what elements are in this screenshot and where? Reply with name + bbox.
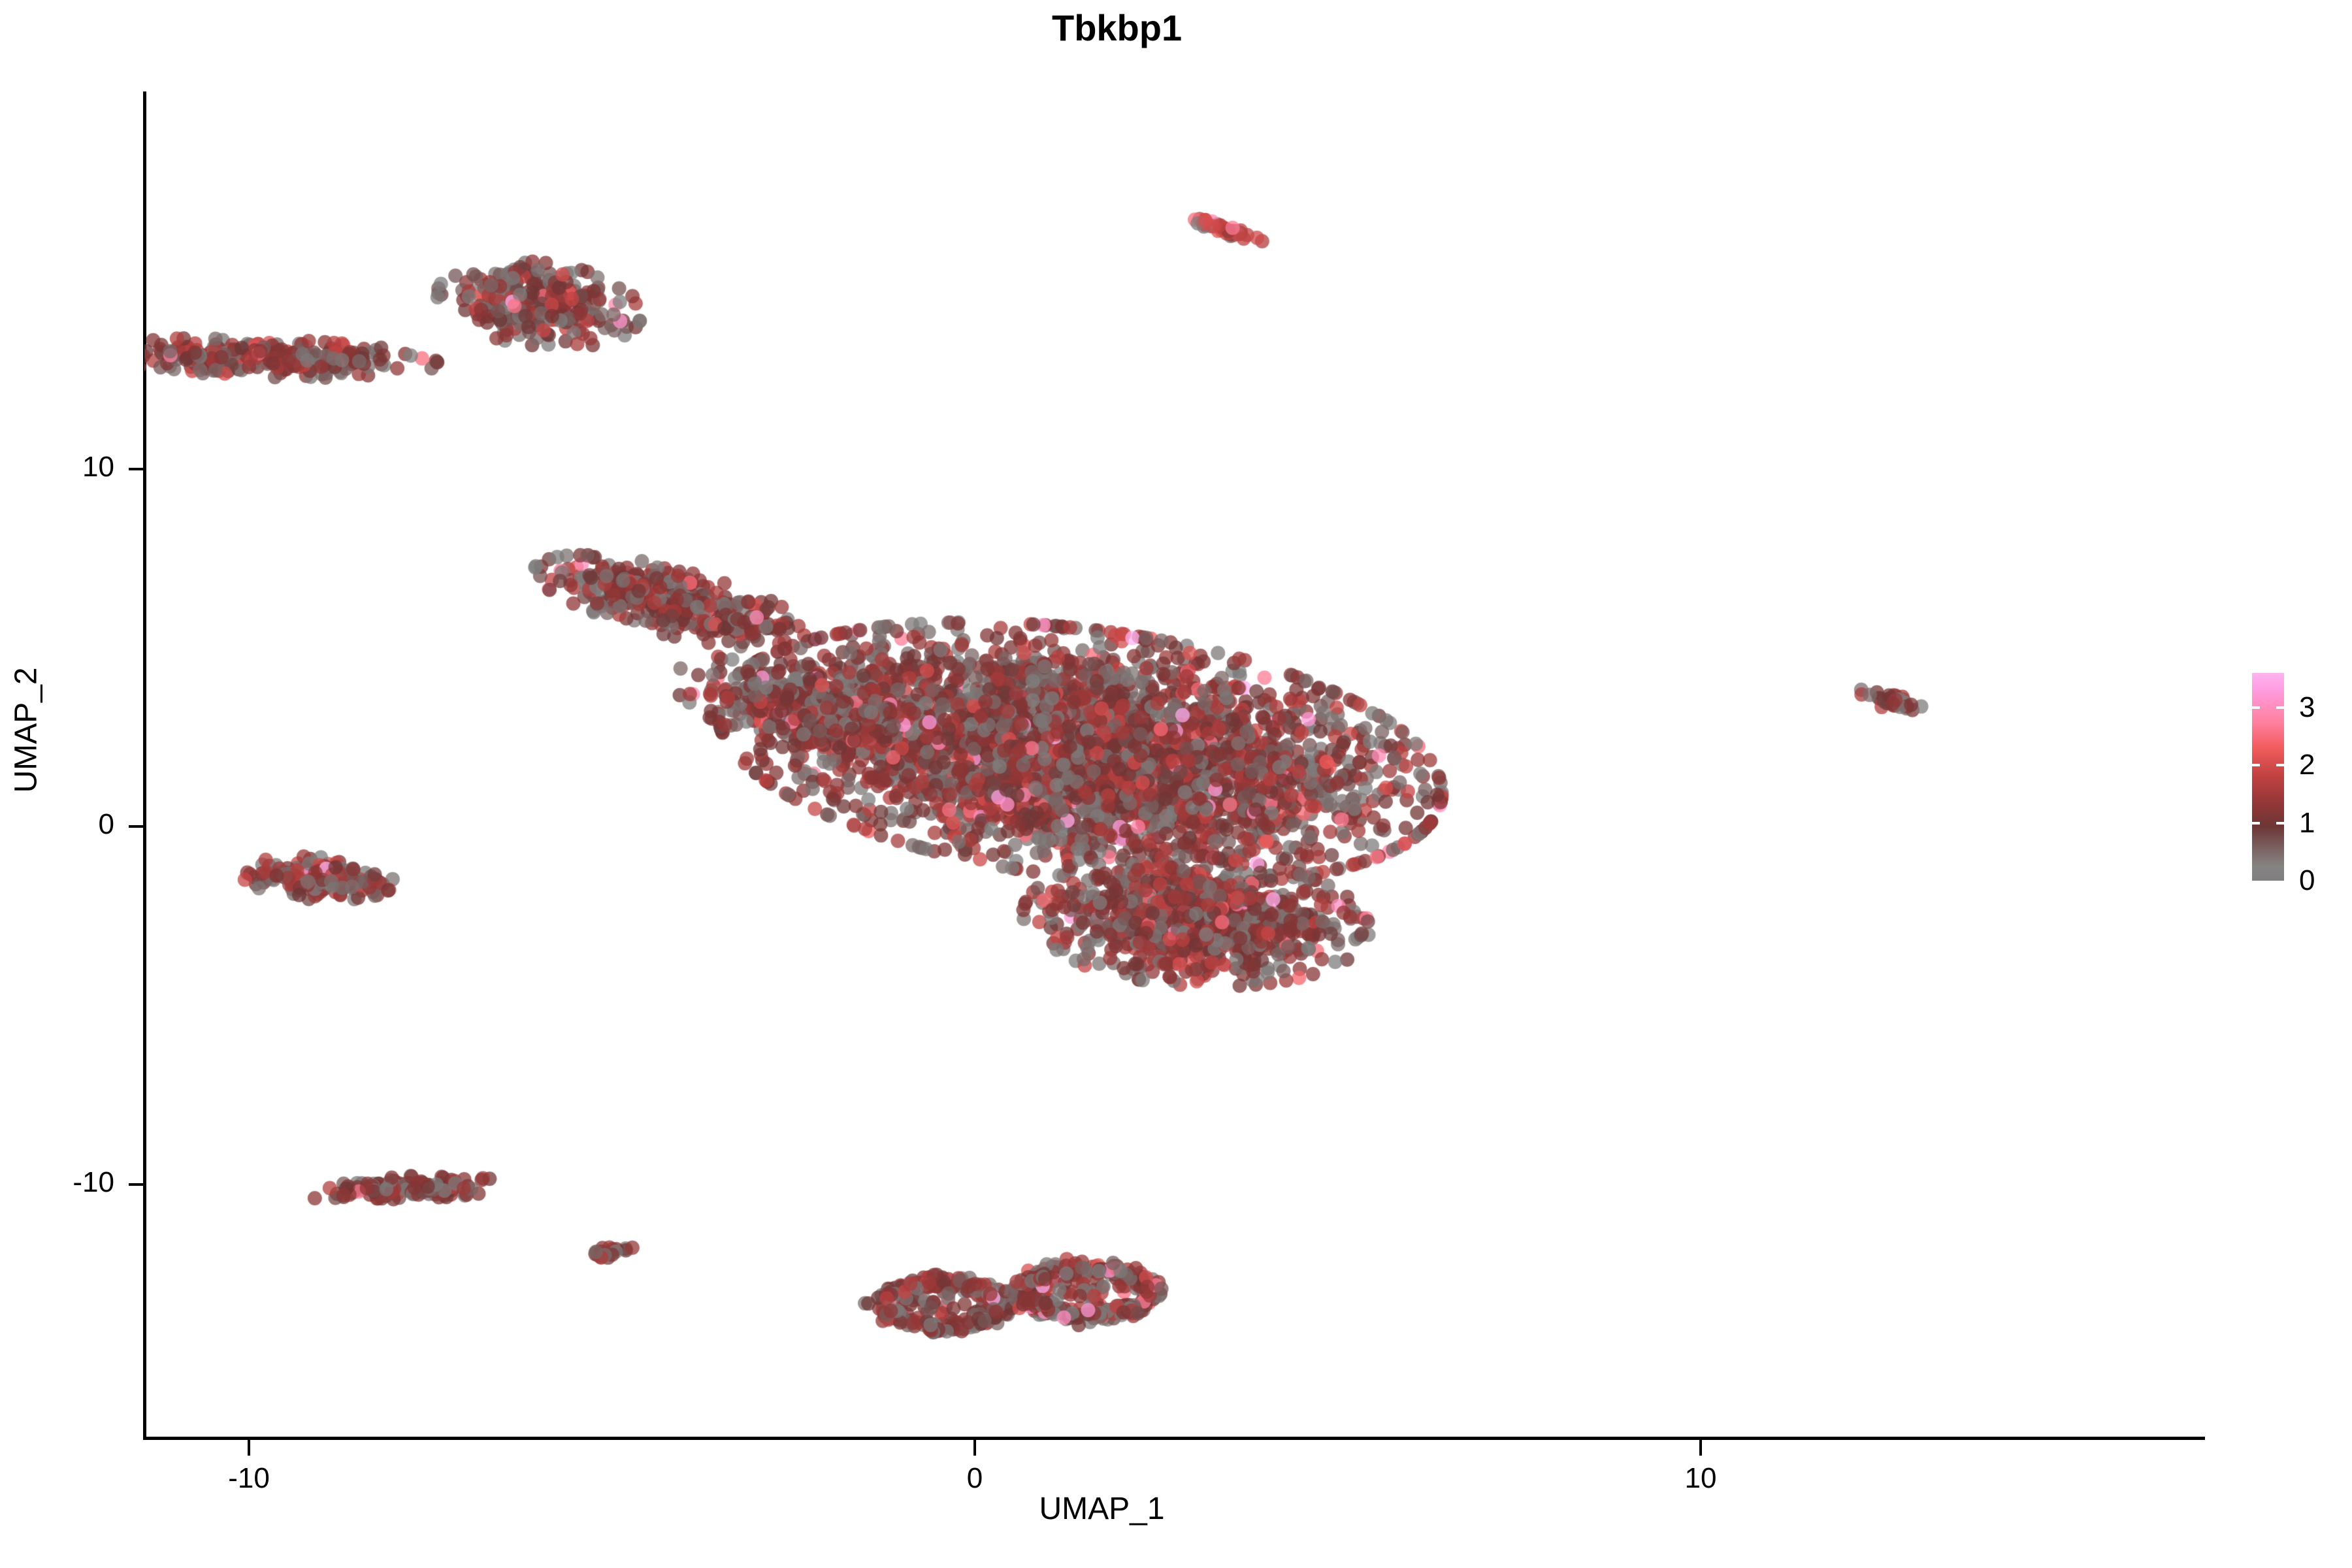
x-tick-mark [248,1440,250,1456]
colorbar-tick [2252,764,2260,766]
y-axis-title: UMAP_2 [8,561,44,900]
y-tick-mark [129,468,144,470]
colorbar-label: 2 [2299,749,2315,781]
x-tick-mark [973,1440,976,1456]
colorbar-label: 0 [2299,864,2315,897]
scatter-points-canvas [144,91,2204,1439]
y-tick-label: -10 [0,1166,114,1199]
colorbar-gradient [2252,673,2284,881]
colorbar-tick [2252,706,2260,709]
colorbar-tick [2276,822,2284,825]
x-tick-label: -10 [228,1462,270,1495]
colorbar-tick [2276,764,2284,766]
color-legend: 3210 [2252,673,2344,882]
umap-feature-plot: Tbkbp1 -10010 -10010 UMAP_1 UMAP_2 3210 [0,0,2352,1568]
page-title: Tbkbp1 [1052,7,1182,49]
colorbar-tick [2276,706,2284,709]
colorbar-label: 3 [2299,691,2315,724]
x-tick-mark [1699,1440,1702,1456]
colorbar-label: 1 [2299,807,2315,840]
x-tick-label: 0 [967,1462,983,1495]
scatter-plot-area [144,91,2204,1439]
x-tick-label: 10 [1685,1462,1717,1495]
x-axis-title: UMAP_1 [0,1491,2204,1527]
colorbar-tick [2252,822,2260,825]
y-tick-mark [129,825,144,828]
y-tick-label: 10 [0,451,114,483]
y-tick-mark [129,1183,144,1186]
